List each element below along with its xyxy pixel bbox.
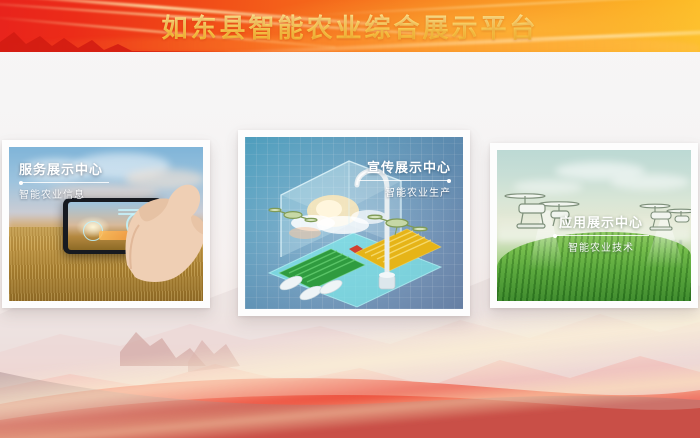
card-title: 服务展示中心 [19, 159, 109, 178]
caption-divider [359, 180, 451, 181]
card-promotion-center[interactable]: 宣传展示中心 智能农业生产 [238, 130, 470, 316]
caption-divider [19, 182, 109, 183]
caption-divider [553, 235, 649, 236]
card-service-center-caption: 服务展示中心 智能农业信息 [19, 159, 109, 201]
card-title: 应用展示中心 [553, 212, 649, 231]
card-service-center-image: 服务展示中心 智能农业信息 [9, 147, 203, 301]
card-title: 宣传展示中心 [359, 157, 451, 176]
card-service-center[interactable]: 服务展示中心 智能农业信息 [2, 140, 210, 308]
hand-illustration [117, 169, 203, 289]
app-root: 如东县智能农业综合展示平台 [0, 0, 700, 438]
card-application-center[interactable]: 应用展示中心 智能农业技术 [490, 143, 698, 308]
card-subtitle: 智能农业技术 [553, 239, 649, 254]
card-subtitle: 智能农业信息 [19, 186, 109, 201]
card-application-center-caption: 应用展示中心 智能农业技术 [553, 212, 649, 254]
page-title: 如东县智能农业综合展示平台 [0, 0, 700, 52]
cloud-icon [610, 174, 690, 190]
card-application-center-image: 应用展示中心 智能农业技术 [497, 150, 691, 301]
card-promotion-center-image: 宣传展示中心 智能农业生产 [245, 137, 463, 309]
card-promotion-center-caption: 宣传展示中心 智能农业生产 [359, 157, 451, 199]
header-banner: 如东县智能农业综合展示平台 [0, 0, 700, 52]
card-subtitle: 智能农业生产 [359, 184, 451, 199]
